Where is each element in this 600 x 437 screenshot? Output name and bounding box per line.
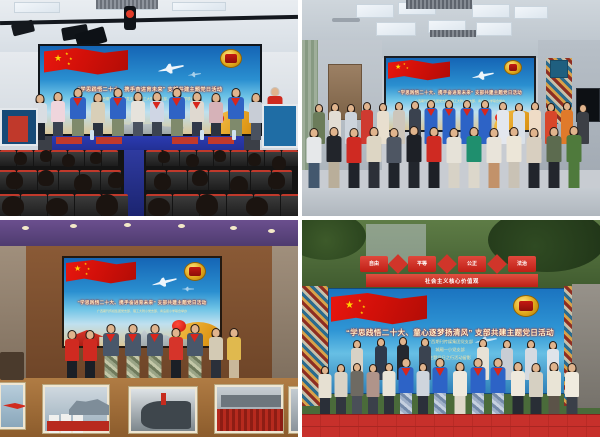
audience-student-head <box>2 196 24 216</box>
ceiling-spot <box>178 224 185 228</box>
group-middle-row <box>316 346 584 422</box>
audience-student-head <box>46 198 68 216</box>
stage-people-row <box>30 84 274 140</box>
chair <box>281 194 298 216</box>
flag-star-small-3: ★ <box>67 62 71 66</box>
backdrop-main-text: “学思践悟二十大、童心逐梦扬清风” 支部共建主题党日活动 <box>346 327 554 338</box>
carpet-seam <box>302 426 600 427</box>
person <box>208 328 223 382</box>
right-display-board <box>262 104 298 148</box>
person <box>346 128 362 190</box>
side-furniture <box>0 352 24 380</box>
audience-student-head <box>62 154 75 167</box>
fighter-jet-graphic <box>151 273 178 291</box>
collage-photo-top-left: Auditorium stage with row of adults and … <box>0 0 298 216</box>
flag-star-small-1: ★ <box>358 299 362 303</box>
arch-footer-banner: 社会主义核心价值观 <box>366 274 538 287</box>
person-in-red-jacket <box>64 330 79 382</box>
arch-word-2: 平等 <box>408 256 436 272</box>
ceiling-light-panel <box>472 4 510 18</box>
display-photo-military-parade <box>214 384 284 434</box>
flag-star-large: ★ <box>54 54 62 63</box>
ceiling-spot <box>230 226 237 230</box>
floor <box>302 188 600 216</box>
audience-student-head <box>192 170 208 186</box>
audience-student-head <box>96 194 118 216</box>
person <box>248 93 263 140</box>
person-in-red-jacket <box>82 330 97 382</box>
person <box>366 127 382 190</box>
arch-word-4: 法治 <box>508 256 536 272</box>
led-banner-sub-text: 广西期刊传媒集团党支部、理工大附小党支部、青岛街小学联合举办 <box>97 309 187 313</box>
led-banner-main-text: “学思践悟二十大、携手奋进育未来” 支部共建主题党日活动 <box>398 90 522 96</box>
fighter-jet-graphic <box>471 68 495 83</box>
table-skirt-red-3 <box>172 137 198 144</box>
audience-student-head <box>148 198 170 216</box>
chair <box>209 170 229 190</box>
ceiling-light-panel <box>476 22 512 36</box>
ceiling-light-3 <box>172 2 226 11</box>
person <box>50 92 65 140</box>
person-young-pioneer <box>398 358 414 422</box>
audience-student-head <box>154 173 171 190</box>
display-photo-naval-honour-guard <box>42 384 110 434</box>
ceiling-spot <box>22 226 29 230</box>
person <box>130 92 145 140</box>
audience-student-head <box>246 197 268 216</box>
audience-student-head <box>40 150 52 162</box>
table-skirt-red-4 <box>208 137 234 144</box>
fighter-jet-small-graphic <box>188 70 202 79</box>
chair <box>197 150 213 166</box>
person-young-pioneer <box>109 88 126 140</box>
police-emblem-graphic <box>513 295 539 317</box>
person <box>546 362 561 422</box>
person <box>506 127 522 190</box>
arch-word-1: 自由 <box>360 256 388 272</box>
person <box>149 92 164 140</box>
water-bottle-2 <box>200 130 204 140</box>
person-in-camouflage <box>124 324 141 382</box>
arch-word-3: 公正 <box>458 256 486 272</box>
group-front-row <box>304 124 596 190</box>
flag-star-small-3: ★ <box>360 311 364 315</box>
person <box>306 128 322 190</box>
flag-star-small-2: ★ <box>406 67 409 70</box>
person <box>526 128 542 190</box>
collage-photo-top-right: Large group portrait of about thirty adu… <box>302 0 600 216</box>
person <box>486 128 502 190</box>
person <box>466 127 482 190</box>
water-bottle-1 <box>90 130 94 140</box>
table-skirt-red-1 <box>56 137 82 144</box>
display-photo-fighter-jet <box>0 382 26 430</box>
audience-student-head <box>186 154 199 167</box>
ceiling-light-panel <box>376 22 416 36</box>
police-emblem-graphic <box>184 262 206 281</box>
chair <box>21 194 47 216</box>
audience-student-head <box>90 152 102 164</box>
photo-collage: Auditorium stage with row of adults and … <box>0 0 600 437</box>
audience-student-head <box>6 172 23 189</box>
person-young-pioneer <box>490 358 506 422</box>
socialist-values-arch: 自由 平等 公正 法治 社会主义核心价值观 <box>358 252 546 288</box>
audience-student-head <box>230 176 248 194</box>
person <box>446 128 462 190</box>
stage-people-row <box>62 318 228 382</box>
ceiling-light-1 <box>14 2 60 13</box>
flag-star-small-2: ★ <box>87 268 90 272</box>
person-young-pioneer <box>168 88 185 140</box>
person <box>326 127 342 190</box>
ceiling-spot <box>268 229 275 233</box>
ceiling-ac-vent <box>406 0 472 9</box>
arch-knot-2 <box>437 254 457 274</box>
audience-student-head <box>108 172 124 188</box>
audience-student-head <box>74 174 92 192</box>
person <box>386 128 402 190</box>
wall-column-right <box>272 246 298 382</box>
person <box>566 126 582 190</box>
flag-star-large: ★ <box>395 64 401 71</box>
collage-photo-bottom-left: Nine people standing on a wooden stage i… <box>0 220 298 437</box>
person <box>452 362 467 422</box>
ceiling-spot <box>124 223 131 227</box>
arch-footer-text: 社会主义核心价值观 <box>425 277 479 285</box>
flag-star-small-1: ★ <box>84 263 87 267</box>
flag-star-small-3: ★ <box>85 273 88 277</box>
person-in-camouflage <box>146 324 163 382</box>
arch-knot-3 <box>487 254 507 274</box>
display-photo-extra <box>288 386 298 434</box>
audience-student-head <box>214 150 226 162</box>
audience-student-head <box>14 152 27 165</box>
flag-star-large: ★ <box>345 301 354 311</box>
audience-student-head <box>248 153 261 166</box>
water-bottle-3 <box>232 130 236 140</box>
arch-knot-1 <box>388 254 408 274</box>
collage-photo-bottom-right: Outdoor group photo on a red carpet in f… <box>302 220 600 437</box>
fighter-jet-small-graphic <box>182 286 194 292</box>
table-skirt-red-2 <box>96 137 122 144</box>
person-in-red-jacket <box>168 328 183 382</box>
police-emblem-graphic <box>220 49 242 68</box>
audience-student-head <box>272 156 286 170</box>
person <box>208 93 223 140</box>
ethnic-panel-medallion <box>550 60 568 78</box>
display-photo-submarine <box>128 386 198 434</box>
person-young-pioneer <box>470 358 486 422</box>
ceiling-ac-vent-2 <box>430 30 476 37</box>
person <box>226 328 241 382</box>
chair <box>102 150 118 166</box>
upper-wall-purple-lit <box>0 220 298 248</box>
person-young-pioneer <box>69 88 86 140</box>
led-banner-main-text: “学思践悟二十大、携手奋进育未来” 支部共建主题党日活动 <box>77 300 206 306</box>
person <box>406 126 422 190</box>
ceiling-fan <box>332 18 360 22</box>
ceiling-light-panel <box>356 4 394 18</box>
moving-head-lens <box>126 10 134 18</box>
flag-star-large: ★ <box>74 265 81 273</box>
audience-student-head <box>196 194 218 216</box>
person-young-pioneer <box>432 358 448 422</box>
person-in-camouflage <box>102 324 119 382</box>
audience-student-head <box>38 170 54 186</box>
flag-star-small-2: ★ <box>362 305 366 309</box>
ceiling-light-panel <box>514 6 548 19</box>
audience-student-head <box>268 172 285 189</box>
chair <box>231 150 247 166</box>
ceiling-spot <box>70 224 77 228</box>
left-red-banner-stand <box>8 116 28 142</box>
person <box>426 127 442 190</box>
audience-student-head <box>158 151 170 163</box>
police-emblem-graphic <box>504 60 522 75</box>
person-in-camouflage <box>186 324 203 382</box>
fighter-jet-graphic <box>157 59 185 77</box>
person <box>546 127 562 190</box>
person <box>510 362 525 422</box>
